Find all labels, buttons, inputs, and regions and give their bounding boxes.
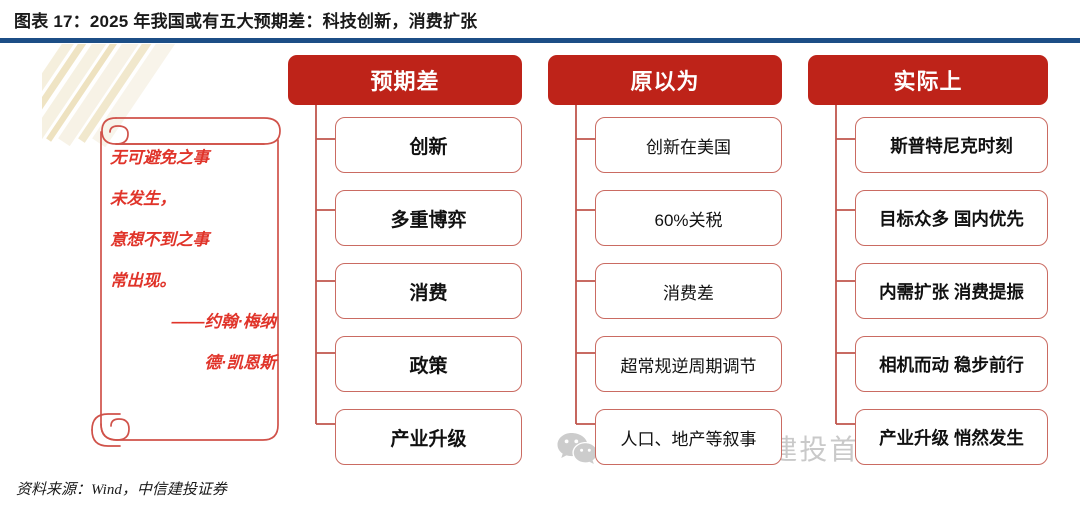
node-3-2-label: 目标众多 国内优先 bbox=[879, 206, 1024, 231]
node-1-4[interactable]: 政策 bbox=[335, 336, 522, 392]
node-3-4[interactable]: 相机而动 稳步前行 bbox=[855, 336, 1048, 392]
quote-text: 无可避免之事 未发生， 意想不到之事 常出现。 ——约翰·梅纳 德·凯恩斯 bbox=[110, 138, 276, 384]
column-header-2[interactable]: 原以为 bbox=[548, 55, 782, 105]
node-1-2[interactable]: 多重博弈 bbox=[335, 190, 522, 246]
node-3-5-label: 产业升级 悄然发生 bbox=[879, 425, 1024, 450]
column-in-reality: 实际上 斯普特尼克时刻 目标众多 国内优先 内需扩张 消费提振 相机而动 稳步前… bbox=[808, 55, 1048, 105]
column-header-1[interactable]: 预期差 bbox=[288, 55, 522, 105]
node-1-1[interactable]: 创新 bbox=[335, 117, 522, 173]
node-2-2[interactable]: 60%关税 bbox=[595, 190, 782, 246]
column-header-1-label: 预期差 bbox=[370, 64, 439, 96]
column-3-items: 斯普特尼克时刻 目标众多 国内优先 内需扩张 消费提振 相机而动 稳步前行 产业… bbox=[855, 117, 1048, 482]
node-3-4-label: 相机而动 稳步前行 bbox=[879, 352, 1024, 377]
quote-scroll: 无可避免之事 未发生， 意想不到之事 常出现。 ——约翰·梅纳 德·凯恩斯 bbox=[88, 104, 298, 454]
quote-line-2: 未发生， bbox=[110, 179, 276, 220]
node-3-2[interactable]: 目标众多 国内优先 bbox=[855, 190, 1048, 246]
node-1-5-label: 产业升级 bbox=[390, 424, 466, 451]
node-2-3-label: 消费差 bbox=[663, 279, 714, 304]
node-3-1[interactable]: 斯普特尼克时刻 bbox=[855, 117, 1048, 173]
column-previously-assumed: 原以为 创新在美国 60%关税 消费差 超常规逆周期调节 人口、地产等叙事 bbox=[548, 55, 782, 105]
node-1-2-label: 多重博弈 bbox=[390, 205, 466, 232]
column-header-2-label: 原以为 bbox=[630, 64, 699, 96]
quote-attribution-line-2: 德·凯恩斯 bbox=[110, 343, 276, 384]
node-1-1-label: 创新 bbox=[409, 132, 447, 159]
node-3-3[interactable]: 内需扩张 消费提振 bbox=[855, 263, 1048, 319]
figure-title-row: 图表 17：2025 年我国或有五大预期差：科技创新，消费扩张 bbox=[0, 0, 1080, 38]
page-title: 图表 17：2025 年我国或有五大预期差：科技创新，消费扩张 bbox=[14, 7, 477, 32]
quote-line-4: 常出现。 bbox=[110, 261, 276, 302]
source-note: 资料来源：Wind，中信建投证券 bbox=[16, 478, 227, 499]
node-1-3[interactable]: 消费 bbox=[335, 263, 522, 319]
column-2-items: 创新在美国 60%关税 消费差 超常规逆周期调节 人口、地产等叙事 bbox=[595, 117, 782, 482]
column-expectation-gap: 预期差 创新 多重博弈 消费 政策 产业升级 bbox=[288, 55, 522, 105]
column-header-3-label: 实际上 bbox=[893, 64, 962, 96]
column-header-3[interactable]: 实际上 bbox=[808, 55, 1048, 105]
quote-line-1: 无可避免之事 bbox=[110, 138, 276, 179]
node-2-2-label: 60%关税 bbox=[654, 206, 722, 231]
node-1-5[interactable]: 产业升级 bbox=[335, 409, 522, 465]
quote-attribution-line-1: ——约翰·梅纳 bbox=[110, 302, 276, 343]
quote-line-3: 意想不到之事 bbox=[110, 220, 276, 261]
node-1-4-label: 政策 bbox=[409, 351, 447, 378]
node-2-3[interactable]: 消费差 bbox=[595, 263, 782, 319]
node-3-3-label: 内需扩张 消费提振 bbox=[879, 279, 1024, 304]
node-3-5[interactable]: 产业升级 悄然发生 bbox=[855, 409, 1048, 465]
column-1-items: 创新 多重博弈 消费 政策 产业升级 bbox=[335, 117, 522, 482]
node-1-3-label: 消费 bbox=[409, 278, 447, 305]
node-2-5[interactable]: 人口、地产等叙事 bbox=[595, 409, 782, 465]
node-3-1-label: 斯普特尼克时刻 bbox=[890, 133, 1013, 158]
node-2-4-label: 超常规逆周期调节 bbox=[621, 352, 757, 377]
node-2-1-label: 创新在美国 bbox=[646, 133, 731, 158]
title-divider bbox=[0, 38, 1080, 43]
node-2-4[interactable]: 超常规逆周期调节 bbox=[595, 336, 782, 392]
node-2-5-label: 人口、地产等叙事 bbox=[621, 425, 757, 450]
node-2-1[interactable]: 创新在美国 bbox=[595, 117, 782, 173]
